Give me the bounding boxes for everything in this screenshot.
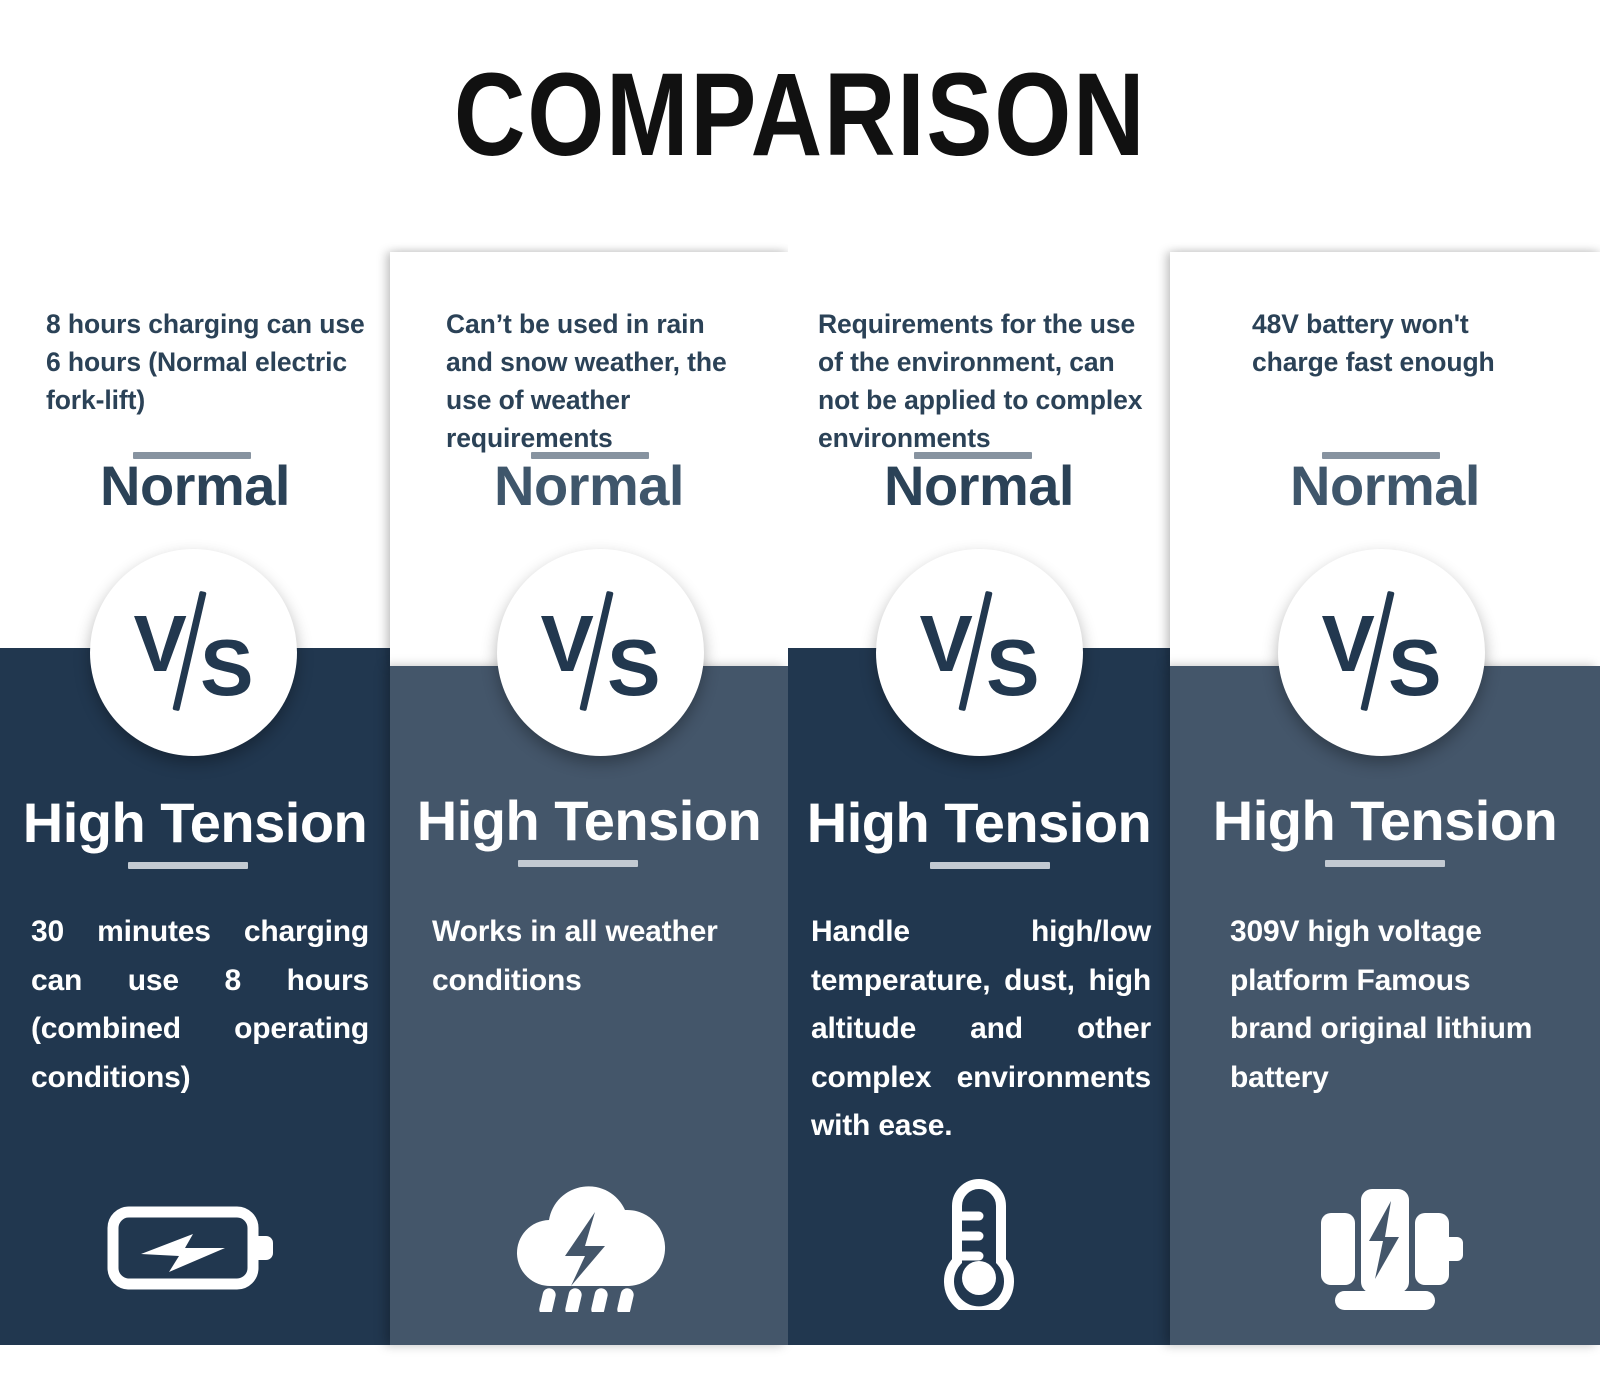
high-tension-divider-2 [518,860,638,867]
vs-badge-1: V S [90,549,297,756]
vs-letter-v: V [1322,604,1375,684]
normal-label-4: Normal [1170,458,1600,514]
vs-letter-s: S [1388,628,1441,708]
comparison-column-1: 8 hours charging can use 6 hours (Normal… [0,0,390,1375]
vs-letter-v: V [541,604,594,684]
comparison-column-2: Can’t be used in rain and snow weather, … [390,0,788,1375]
vs-letter-v: V [134,604,187,684]
comparison-column-4: 48V battery won't charge fast enough Nor… [1170,0,1600,1375]
vs-letter-s: S [607,628,660,708]
thermometer-icon [788,1178,1170,1310]
charging-station-icon [1170,1175,1600,1310]
comparison-board: 8 hours charging can use 6 hours (Normal… [0,0,1600,1375]
vs-letter-v: V [920,604,973,684]
high-tension-description-2: Works in all weather conditions [432,908,754,1005]
battery-charging-icon [0,1180,390,1310]
high-tension-divider-3 [930,862,1050,869]
high-tension-divider-1 [128,862,248,869]
vs-letter-s: S [986,628,1039,708]
high-tension-description-1: 30 minutes charging can use 8 hours (com… [31,908,369,1102]
high-tension-label-1: High Tension [0,795,390,851]
normal-label-1: Normal [0,458,390,514]
comparison-column-3: Requirements for the use of the environm… [788,0,1170,1375]
normal-label-2: Normal [390,458,788,514]
high-tension-label-4: High Tension [1170,793,1600,849]
high-tension-description-4: 309V high voltage platform Famous brand … [1230,908,1540,1102]
normal-description-4: 48V battery won't charge fast enough [1252,305,1552,381]
high-tension-label-3: High Tension [788,795,1170,851]
vs-badge-3: V S [876,549,1083,756]
high-tension-label-2: High Tension [390,793,788,849]
high-tension-description-3: Handle high/low temperature, dust, high … [811,908,1151,1151]
normal-description-3: Requirements for the use of the environm… [818,305,1148,458]
normal-description-1: 8 hours charging can use 6 hours (Normal… [46,305,376,419]
high-tension-divider-4 [1325,860,1445,867]
vs-badge-2: V S [497,549,704,756]
vs-badge-4: V S [1278,549,1485,756]
normal-label-3: Normal [788,458,1170,514]
normal-description-2: Can’t be used in rain and snow weather, … [446,305,756,458]
vs-letter-s: S [200,628,253,708]
thunderstorm-rain-cloud-icon [390,1176,788,1312]
